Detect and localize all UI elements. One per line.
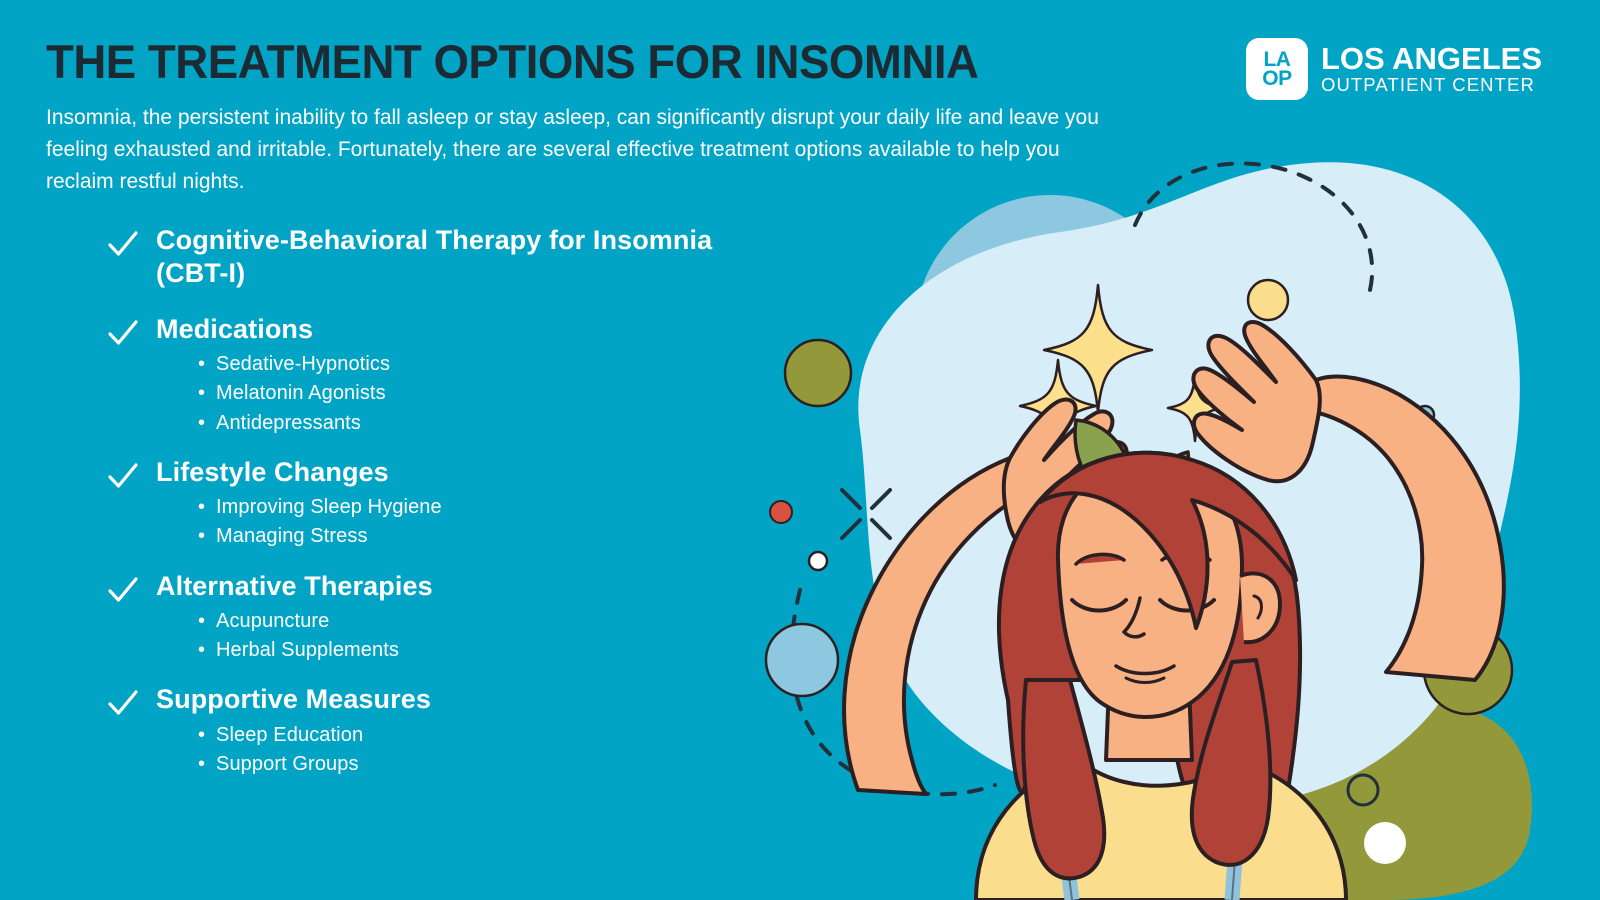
list-item: Sleep Education (198, 721, 790, 750)
sub-list: Improving Sleep Hygiene Managing Stress (198, 493, 790, 551)
list-item[interactable]: Alternative Therapies Acupuncture Herbal… (106, 570, 790, 666)
intro-paragraph: Insomnia, the persistent inability to fa… (46, 102, 1101, 198)
option-title: Alternative Therapies (156, 570, 790, 603)
treatment-options-list: Cognitive-Behavioral Therapy for Insomni… (106, 224, 790, 780)
sub-list: Acupuncture Herbal Supplements (198, 607, 790, 665)
list-item[interactable]: Cognitive-Behavioral Therapy for Insomni… (106, 224, 790, 291)
sub-list: Sleep Education Support Groups (198, 721, 790, 779)
option-title: Supportive Measures (156, 683, 790, 716)
outlined-circle-small (809, 552, 827, 570)
logo-text: LOS ANGELES OUTPATIENT CENTER (1321, 43, 1542, 95)
list-item[interactable]: Supportive Measures Sleep Education Supp… (106, 683, 790, 779)
white-circle (1364, 822, 1406, 864)
check-icon (106, 228, 140, 262)
sub-list: Sedative-Hypnotics Melatonin Agonists An… (198, 350, 790, 438)
list-item[interactable]: Medications Sedative-Hypnotics Melatonin… (106, 313, 790, 438)
list-item: Acupuncture (198, 607, 790, 636)
list-item: Sedative-Hypnotics (198, 350, 790, 379)
list-item: Improving Sleep Hygiene (198, 493, 790, 522)
content-column: THE TREATMENT OPTIONS FOR INSOMNIA Insom… (0, 0, 790, 900)
olive-circle-left (785, 340, 851, 406)
list-item[interactable]: Lifestyle Changes Improving Sleep Hygien… (106, 456, 790, 552)
option-title: Medications (156, 313, 790, 346)
option-title: Cognitive-Behavioral Therapy for Insomni… (156, 224, 790, 291)
list-item: Support Groups (198, 750, 790, 779)
list-item: Herbal Supplements (198, 636, 790, 665)
list-item: Managing Stress (198, 522, 790, 551)
brand-logo[interactable]: LA OP LOS ANGELES OUTPATIENT CENTER (1246, 38, 1542, 100)
logo-mark-line2: OP (1262, 69, 1291, 88)
list-item: Antidepressants (198, 409, 790, 438)
list-item: Melatonin Agonists (198, 379, 790, 408)
yellow-circle (1248, 280, 1288, 320)
logo-name-line2: OUTPATIENT CENTER (1321, 76, 1542, 95)
check-icon (106, 687, 140, 721)
check-icon (106, 317, 140, 351)
logo-name-line1: LOS ANGELES (1321, 43, 1542, 75)
page-title: THE TREATMENT OPTIONS FOR INSOMNIA (46, 38, 768, 85)
option-title: Lifestyle Changes (156, 456, 790, 489)
check-icon (106, 574, 140, 608)
check-icon (106, 460, 140, 494)
logo-mark-icon: LA OP (1246, 38, 1308, 100)
